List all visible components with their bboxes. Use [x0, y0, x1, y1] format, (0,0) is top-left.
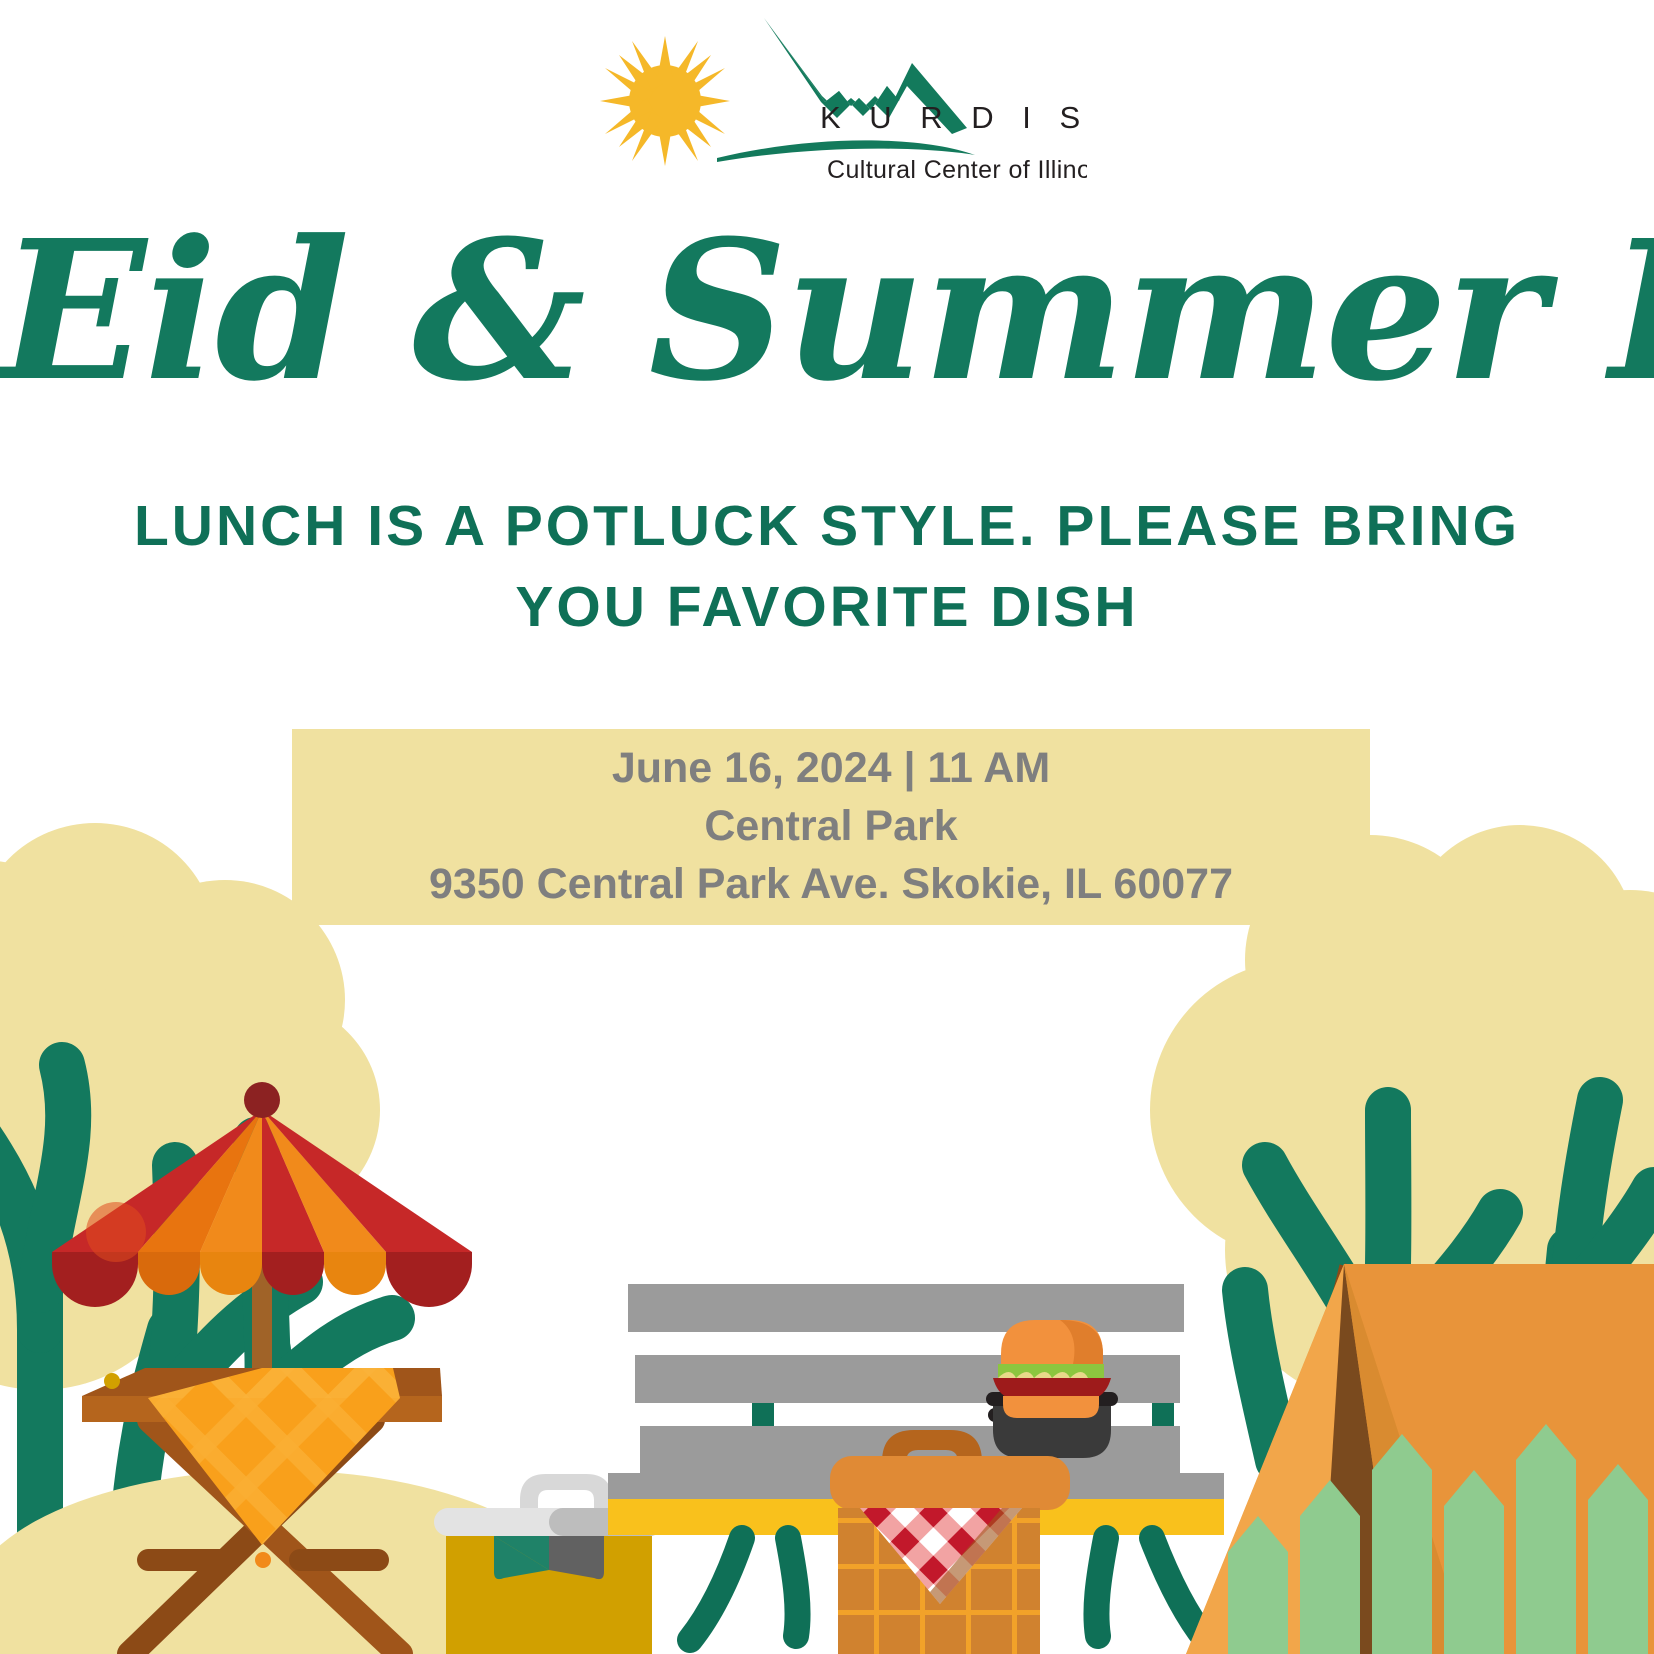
cooler-box — [434, 1474, 664, 1654]
cooler-body-icon — [446, 1536, 652, 1654]
logo-tagline: Cultural Center of Illinois — [827, 156, 1087, 178]
basket-handle-icon — [882, 1430, 982, 1508]
event-address: 9350 Central Park Ave. Skokie, IL 60077 — [429, 860, 1233, 910]
burger-icon — [993, 1320, 1111, 1418]
patio-umbrella — [52, 1082, 472, 1460]
cooler-handle-icon — [520, 1474, 612, 1512]
event-details-box: June 16, 2024 | 11 AM Central Park 9350 … — [292, 729, 1370, 925]
tent-body-icon — [1186, 1264, 1654, 1654]
subtitle-line-2: YOU FAVORITE DISH — [110, 567, 1544, 648]
bench-seat-yellow-icon — [608, 1499, 1224, 1535]
tree-right-branches-icon — [1245, 1100, 1654, 1654]
page-title: Eid & Summer Picnic — [0, 216, 1654, 408]
tent-back-panel-icon — [1344, 1264, 1654, 1654]
cooler-lid-icon — [434, 1508, 664, 1536]
folding-picnic-table — [82, 1368, 442, 1654]
tent-guy-rope-right-icon — [1344, 1265, 1654, 1560]
table-edge-icon — [82, 1396, 442, 1422]
cooler-lid-shade — [549, 1508, 664, 1536]
pan-handle-icon — [988, 1408, 1108, 1422]
logo-wordmark: K U R D I S H — [820, 100, 1087, 135]
tent-left-flap-icon — [1186, 1264, 1344, 1654]
bench-slat-2 — [628, 1284, 1184, 1332]
mountain-ridge-icon — [764, 18, 912, 110]
ground-shadow-left — [0, 1470, 585, 1654]
flyer-canvas: K U R D I S H Cultural Center of Illinoi… — [0, 0, 1654, 1654]
tree-left-branches-icon — [0, 1065, 392, 1654]
basket-lid-icon — [830, 1456, 1070, 1510]
logo-container: K U R D I S H Cultural Center of Illinoi… — [0, 6, 1654, 176]
pan-rim-icon — [986, 1392, 1118, 1406]
bench-support-right-icon — [1152, 1355, 1174, 1525]
bench-support-left-icon — [752, 1355, 774, 1525]
tent-right-fold-icon — [1344, 1264, 1470, 1654]
event-venue: Central Park — [704, 802, 957, 852]
table-legs-icon — [130, 1420, 400, 1654]
subtitle-line-1: LUNCH IS A POTLUCK STYLE. PLEASE BRING — [110, 486, 1544, 567]
bench-slat-3 — [640, 1426, 1180, 1474]
tent-guy-rope-icon — [1264, 1265, 1342, 1582]
kurdish-cultural-center-logo: K U R D I S H Cultural Center of Illinoi… — [567, 6, 1087, 178]
umbrella-finial-icon — [244, 1082, 280, 1118]
pan-body-icon — [993, 1398, 1111, 1458]
cooler-ribbon-left — [494, 1536, 549, 1570]
table-knot-icon — [104, 1373, 120, 1389]
burger-on-pan — [986, 1320, 1118, 1458]
cooler-ribbon-right — [549, 1536, 604, 1579]
tablecloth-shade — [148, 1398, 400, 1545]
bench-seat-top-icon — [608, 1473, 1224, 1499]
tent-door-shadow-icon — [1320, 1264, 1400, 1654]
camping-tent — [1186, 1264, 1654, 1654]
tree-left — [0, 823, 392, 1654]
cooler-ribbon-left2 — [494, 1536, 549, 1579]
table-top-icon — [82, 1368, 442, 1396]
park-bench — [608, 1284, 1224, 1640]
subtitle: LUNCH IS A POTLUCK STYLE. PLEASE BRING Y… — [110, 486, 1544, 648]
basket-cloth-icon — [860, 1508, 1022, 1604]
tent-peg-icon — [1250, 1578, 1278, 1654]
tree-right — [1150, 825, 1654, 1654]
basket-body-icon — [838, 1508, 1040, 1654]
bench-slat-1 — [635, 1355, 1180, 1403]
tablecloth-icon — [148, 1368, 400, 1545]
umbrella-pole-icon — [252, 1160, 272, 1460]
sun-icon — [600, 36, 730, 166]
event-datetime: June 16, 2024 | 11 AM — [612, 744, 1050, 794]
bench-legs-icon — [690, 1538, 1206, 1640]
grass-blades — [1228, 1424, 1648, 1654]
picnic-basket — [830, 1430, 1070, 1654]
umbrella-canopy-icon — [52, 1110, 472, 1307]
tent-right-panel-icon — [1344, 1264, 1560, 1654]
